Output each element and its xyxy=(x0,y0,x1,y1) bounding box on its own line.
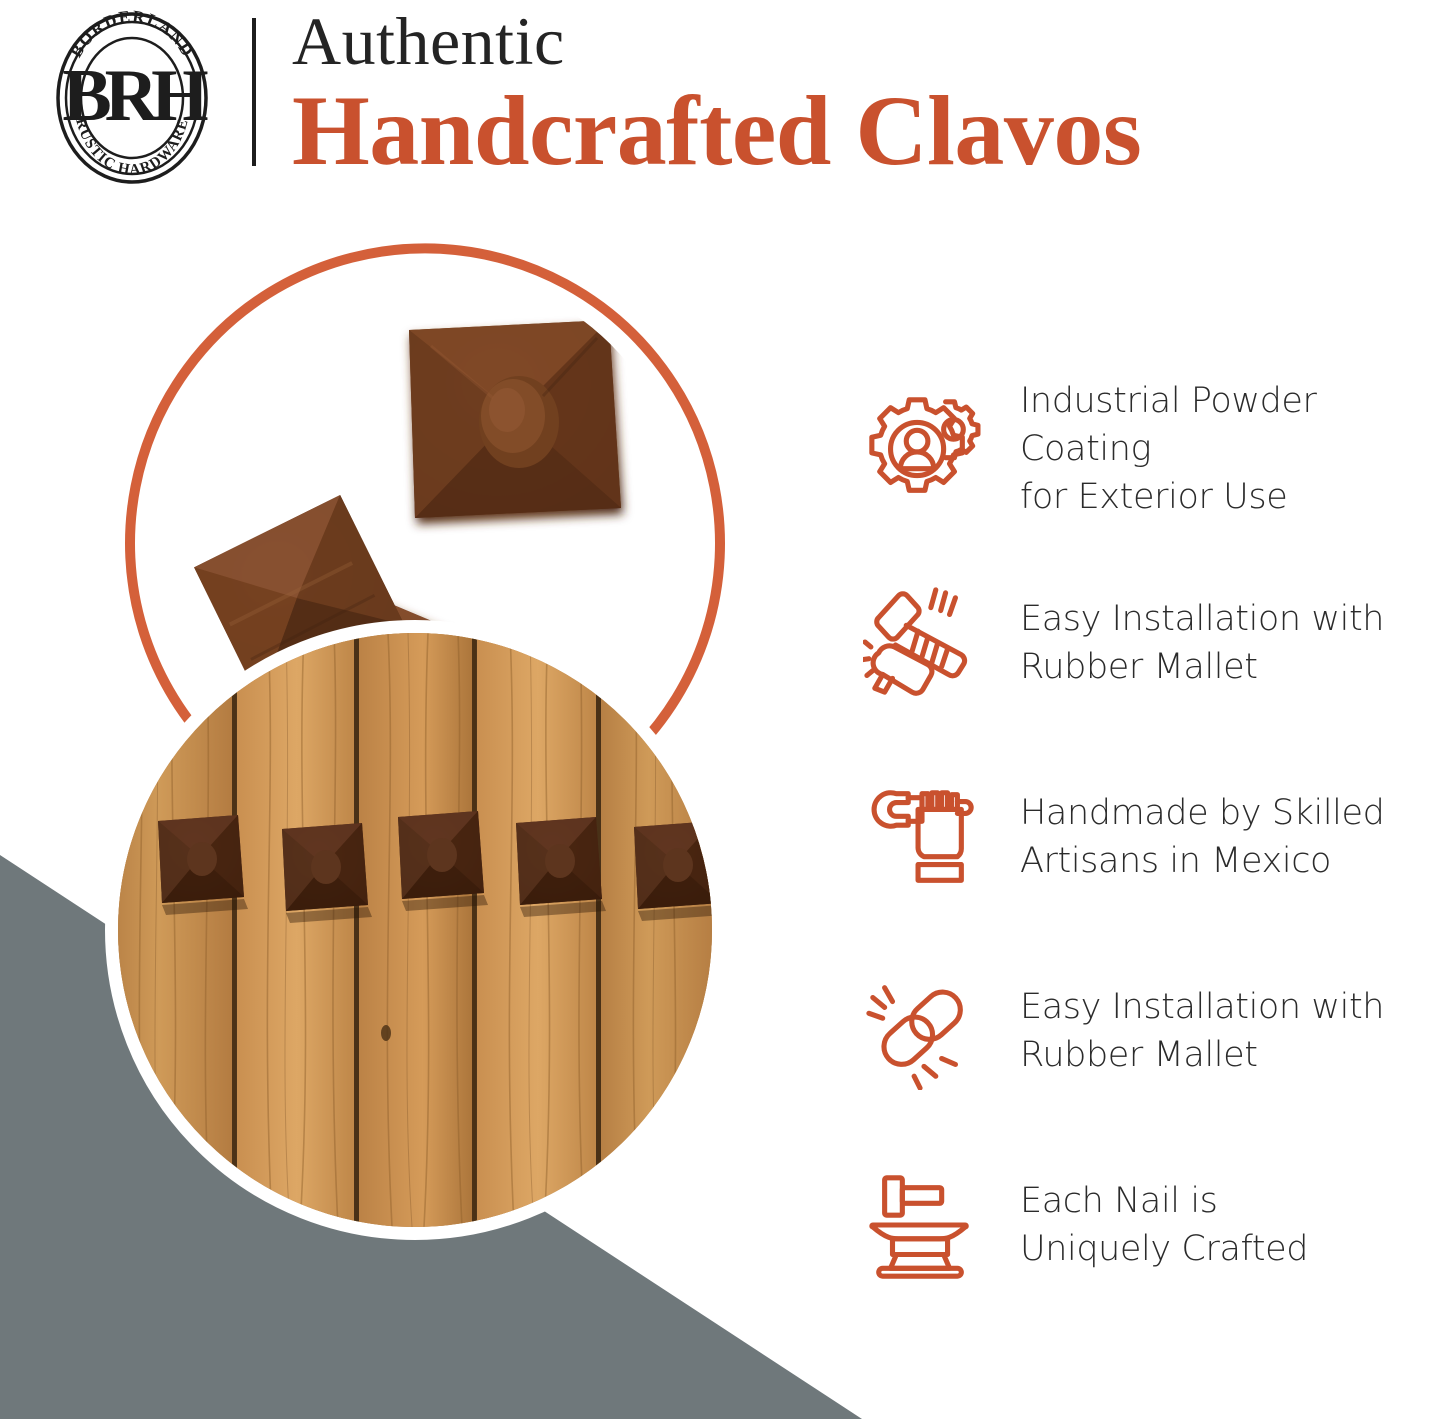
clavo-head-front xyxy=(409,320,621,518)
feature-label-line1: Easy Installation with xyxy=(1020,983,1445,1031)
headline-eyebrow: Authentic xyxy=(292,4,1442,78)
feature-label-line2: for Exterior Use xyxy=(1020,473,1445,521)
feature-label-line1: Each Nail is xyxy=(1020,1177,1445,1225)
feature-label: Industrial Powder Coating for Exterior U… xyxy=(1006,377,1445,521)
feature-item: Each Nail is Uniquely Crafted xyxy=(838,1128,1445,1322)
feature-label-line2: Uniquely Crafted xyxy=(1020,1225,1445,1273)
product-visual-group xyxy=(0,200,820,1419)
feature-label-line2: Artisans in Mexico xyxy=(1020,837,1445,885)
feature-label: Handmade by Skilled Artisans in Mexico xyxy=(1006,789,1445,885)
feature-label-line1: Industrial Powder Coating xyxy=(1020,377,1445,473)
wood-door-illustration xyxy=(118,633,712,1227)
infographic-canvas: BORDERLAND RUSTIC HARDWARE BRH Authentic… xyxy=(0,0,1445,1419)
feature-item: Handmade by Skilled Artisans in Mexico xyxy=(838,740,1445,934)
gear-person-icon xyxy=(838,374,1006,524)
feature-label-line1: Easy Installation with xyxy=(1020,595,1445,643)
svg-text:BORDERLAND: BORDERLAND xyxy=(66,8,197,61)
feature-label: Easy Installation with Rubber Mallet xyxy=(1006,595,1445,691)
feature-label: Each Nail is Uniquely Crafted xyxy=(1006,1177,1445,1273)
brand-logo: BORDERLAND RUSTIC HARDWARE BRH xyxy=(48,8,216,184)
feature-label-line2: Rubber Mallet xyxy=(1020,1031,1445,1079)
page-title: Handcrafted Clavos xyxy=(292,80,1442,182)
headline-block: Authentic Handcrafted Clavos xyxy=(292,4,1442,182)
fist-wrench-icon xyxy=(838,762,1006,912)
feature-label: Easy Installation with Rubber Mallet xyxy=(1006,983,1445,1079)
anvil-hammer-icon xyxy=(838,1150,1006,1300)
feature-item: Easy Installation with Rubber Mallet xyxy=(838,934,1445,1128)
hand-mallet-icon xyxy=(838,568,1006,718)
logo-badge-icon: BORDERLAND RUSTIC HARDWARE BRH xyxy=(48,8,216,184)
feature-list: Industrial Powder Coating for Exterior U… xyxy=(838,352,1445,1322)
feature-item: Industrial Powder Coating for Exterior U… xyxy=(838,352,1445,546)
logo-arc-top: BORDERLAND xyxy=(66,8,197,61)
feature-item: Easy Installation with Rubber Mallet xyxy=(838,546,1445,740)
installed-clavos-photo xyxy=(105,620,725,1240)
brand-divider xyxy=(252,18,256,166)
feature-label-line2: Rubber Mallet xyxy=(1020,643,1445,691)
logo-monogram: BRH xyxy=(62,55,208,137)
chain-link-icon xyxy=(838,956,1006,1106)
feature-label-line1: Handmade by Skilled xyxy=(1020,789,1445,837)
header: BORDERLAND RUSTIC HARDWARE BRH Authentic… xyxy=(0,0,1445,200)
